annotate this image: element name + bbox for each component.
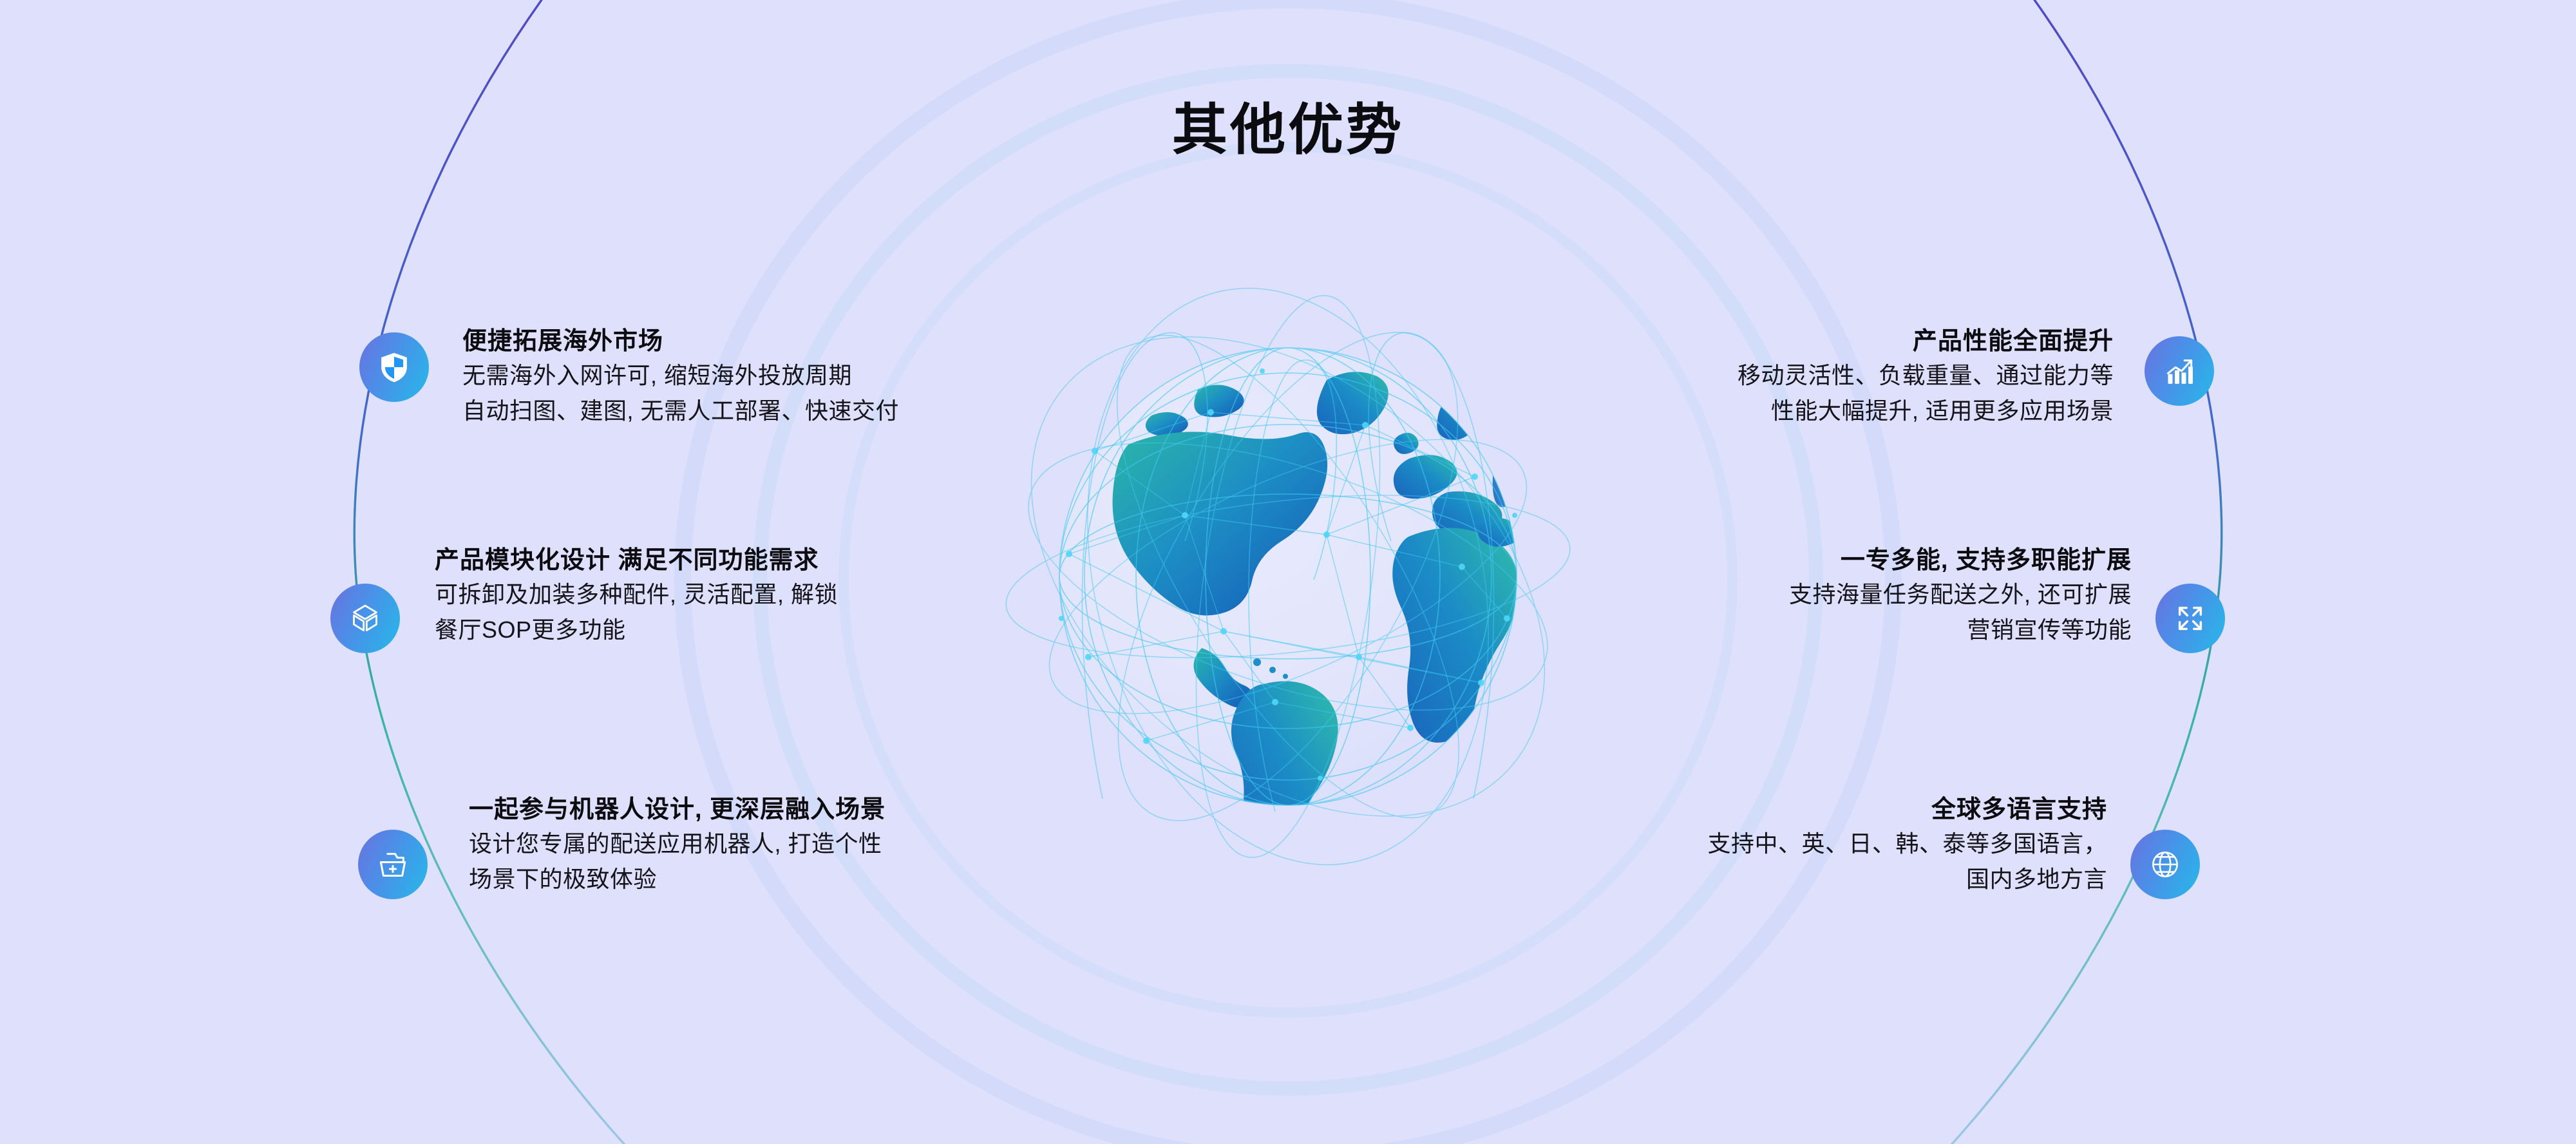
- globe-icon[interactable]: [2130, 830, 2200, 899]
- feature-line: 餐厅SOP更多功能: [435, 613, 838, 648]
- earth-globe-illustration: [0, 0, 2576, 1144]
- growth-chart-icon[interactable]: [2145, 336, 2214, 406]
- feature-title: 产品模块化设计 满足不同功能需求: [435, 544, 838, 577]
- feature-line: 可拆卸及加装多种配件, 灵活配置, 解锁: [435, 577, 838, 613]
- feature-title: 便捷拓展海外市场: [462, 325, 899, 358]
- feature-multi-language: 全球多语言支持 支持中、英、日、韩、泰等多国语言， 国内多地方言: [1707, 794, 2107, 897]
- feature-modular-design: 产品模块化设计 满足不同功能需求 可拆卸及加装多种配件, 灵活配置, 解锁 餐厅…: [435, 544, 838, 648]
- feature-line: 支持中、英、日、韩、泰等多国语言，: [1707, 826, 2107, 862]
- cube-icon[interactable]: [330, 584, 400, 653]
- feature-line: 移动灵活性、负载重量、通过能力等: [1738, 358, 2114, 394]
- expand-arrows-icon[interactable]: [2155, 584, 2225, 653]
- page-title: 其他优势: [0, 100, 2576, 161]
- feature-title: 一起参与机器人设计, 更深层融入场景: [469, 794, 885, 826]
- feature-line: 性能大幅提升, 适用更多应用场景: [1738, 394, 2114, 429]
- advantages-section: 其他优势 便捷拓展海外市场 无需海外入网许可, 缩短海外投放周期 自动扫图、建图…: [0, 0, 2576, 1144]
- feature-line: 自动扫图、建图, 无需人工部署、快速交付: [462, 394, 899, 429]
- feature-title: 全球多语言支持: [1707, 794, 2107, 826]
- feature-title: 一专多能, 支持多职能扩展: [1789, 544, 2132, 577]
- feature-performance-upgrade: 产品性能全面提升 移动灵活性、负载重量、通过能力等 性能大幅提升, 适用更多应用…: [1738, 325, 2114, 429]
- shield-icon[interactable]: [359, 332, 429, 402]
- feature-overseas-market: 便捷拓展海外市场 无需海外入网许可, 缩短海外投放周期 自动扫图、建图, 无需人…: [462, 325, 899, 429]
- folder-plus-icon[interactable]: [358, 830, 428, 899]
- feature-title: 产品性能全面提升: [1738, 325, 2114, 358]
- feature-line: 设计您专属的配送应用机器人, 打造个性: [469, 826, 885, 862]
- feature-line: 场景下的极致体验: [469, 862, 885, 897]
- feature-line: 营销宣传等功能: [1789, 613, 2132, 648]
- feature-line: 支持海量任务配送之外, 还可扩展: [1789, 577, 2132, 613]
- feature-line: 国内多地方言: [1707, 862, 2107, 897]
- feature-multi-function: 一专多能, 支持多职能扩展 支持海量任务配送之外, 还可扩展 营销宣传等功能: [1789, 544, 2132, 648]
- feature-co-design-robot: 一起参与机器人设计, 更深层融入场景 设计您专属的配送应用机器人, 打造个性 场…: [469, 794, 885, 897]
- feature-line: 无需海外入网许可, 缩短海外投放周期: [462, 358, 899, 394]
